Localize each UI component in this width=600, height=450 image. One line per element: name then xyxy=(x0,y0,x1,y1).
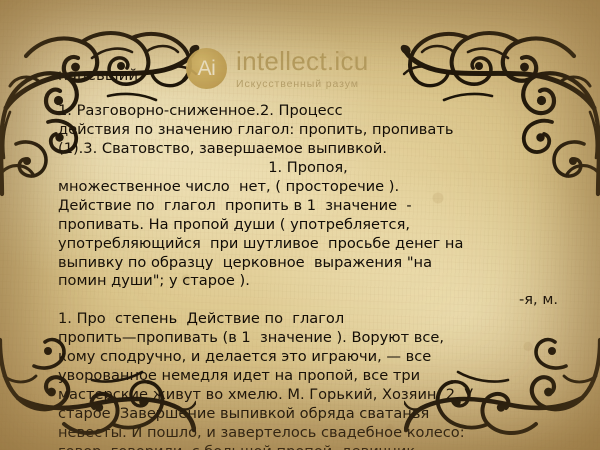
dictionary-entry: напевший 1. Разговорно-сниженное.2. Проц… xyxy=(58,66,558,450)
headword: напевший xyxy=(58,66,558,85)
definition-paragraph-1: 1. Разговорно-сниженное.2. Процесс дейст… xyxy=(58,102,558,159)
sense-marker-numbered: 1. Пропоя, xyxy=(58,159,558,178)
definition-paragraph-3: 1. Про степень Действие по глагол пропит… xyxy=(58,310,558,450)
parchment-page: Ai intellect.icu Искусственный разум нап… xyxy=(0,0,600,450)
definition-paragraph-2: множественное число нет, ( просторечие )… xyxy=(58,178,558,292)
gender-tag: -я, м. xyxy=(58,291,558,310)
